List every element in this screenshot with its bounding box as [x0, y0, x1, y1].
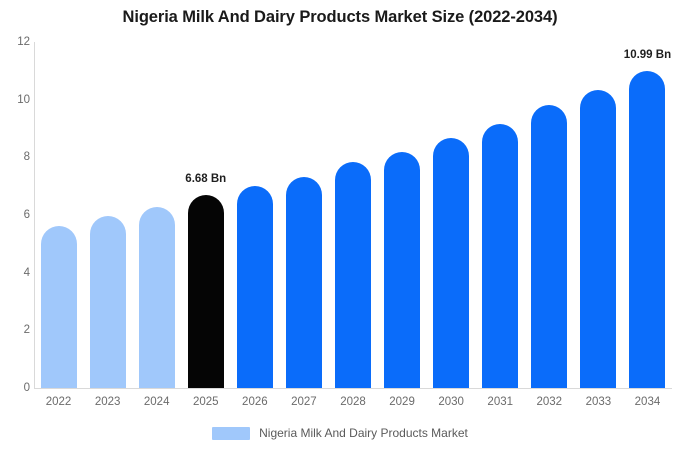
bar-2024[interactable] — [139, 207, 175, 388]
y-tick-label: 6 — [4, 209, 30, 221]
x-tick-label-2034: 2034 — [617, 396, 677, 408]
bar-2029[interactable] — [384, 152, 420, 388]
bar-group[interactable] — [41, 42, 77, 388]
bar-value-label-2025: 6.68 Bn — [185, 173, 226, 185]
bar-group[interactable] — [335, 42, 371, 388]
bar-group[interactable] — [286, 42, 322, 388]
bar-group[interactable] — [384, 42, 420, 388]
bar-2030[interactable] — [433, 138, 469, 388]
bar-2031[interactable] — [482, 124, 518, 388]
y-tick-label: 12 — [4, 36, 30, 48]
bar-group[interactable] — [237, 42, 273, 388]
bar-2032[interactable] — [531, 105, 567, 388]
plot-area: 6.68 Bn10.99 Bn — [34, 42, 672, 388]
y-tick-label: 4 — [4, 267, 30, 279]
bar-2033[interactable] — [580, 90, 616, 388]
bar-2023[interactable] — [90, 216, 126, 388]
bar-value-label-2034: 10.99 Bn — [624, 49, 671, 61]
x-axis-line — [34, 388, 672, 389]
y-tick-label: 0 — [4, 382, 30, 394]
bar-2022[interactable] — [41, 226, 77, 388]
bar-group[interactable] — [580, 42, 616, 388]
y-axis-tick-labels: 024681012 — [0, 0, 30, 450]
y-tick-label: 2 — [4, 324, 30, 336]
bar-2027[interactable] — [286, 177, 322, 388]
bar-group[interactable] — [531, 42, 567, 388]
bar-group[interactable]: 6.68 Bn — [188, 42, 224, 388]
y-tick-label: 8 — [4, 151, 30, 163]
bar-group[interactable] — [90, 42, 126, 388]
bar-2028[interactable] — [335, 162, 371, 388]
bar-group[interactable] — [433, 42, 469, 388]
legend-label-nigeria-milk-and-dairy-products-market: Nigeria Milk And Dairy Products Market — [259, 426, 468, 440]
legend-swatch-nigeria-milk-and-dairy-products-market — [212, 427, 250, 440]
bar-group[interactable] — [482, 42, 518, 388]
bar-2034[interactable] — [629, 71, 665, 388]
chart-title: Nigeria Milk And Dairy Products Market S… — [0, 8, 680, 27]
y-tick-label: 10 — [4, 94, 30, 106]
bar-2025[interactable] — [188, 195, 224, 388]
bar-group[interactable] — [139, 42, 175, 388]
bar-2026[interactable] — [237, 186, 273, 388]
bar-chart: Nigeria Milk And Dairy Products Market S… — [0, 0, 680, 450]
chart-legend: Nigeria Milk And Dairy Products Market — [0, 426, 680, 440]
bar-group[interactable]: 10.99 Bn — [629, 42, 665, 388]
